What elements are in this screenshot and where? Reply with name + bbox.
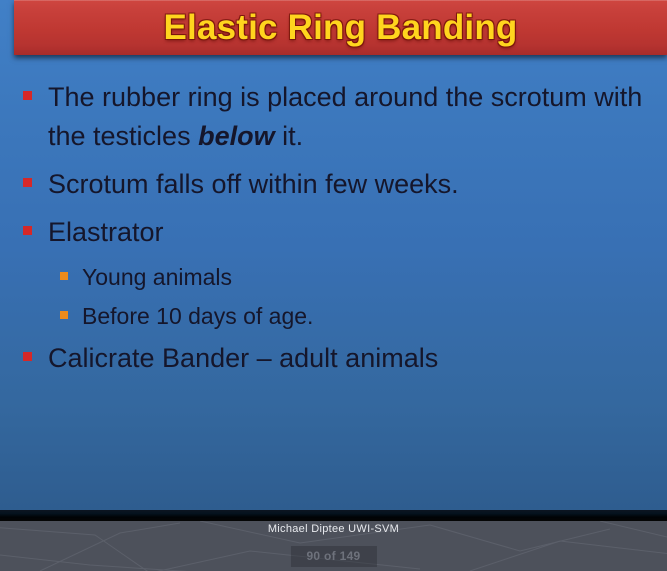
page-indicator: 90 of 149 [290,546,376,567]
bullet-item: The rubber ring is placed around the scr… [0,78,667,156]
sub-bullet-marker-icon [60,311,68,319]
bullet-marker-icon [23,178,32,187]
slide-title-banner: Elastic Ring Banding [14,0,667,55]
bullet-marker-icon [23,91,32,100]
footer-caption: Michael Diptee UWI-SVM [0,523,667,535]
sub-bullet-text: Young animals [82,261,642,293]
bullet-text: Elastrator [48,213,648,252]
bullet-text: Scrotum falls off within few weeks. [48,165,648,204]
sub-bullet-item: Young animals [0,261,667,293]
bullet-text-before: The rubber ring is placed around the scr… [48,82,642,151]
bullet-marker-icon [23,226,32,235]
sub-bullet-text: Before 10 days of age. [82,300,642,332]
footer-bar: Michael Diptee UWI-SVM 90 of 149 [0,521,667,571]
slide-bottom-divider [0,510,667,521]
bullet-item: Calicrate Bander – adult animals [0,339,667,378]
slide-body: The rubber ring is placed around the scr… [0,78,667,387]
bullet-marker-icon [23,352,32,361]
bullet-text: Calicrate Bander – adult animals [48,339,648,378]
bullet-item: Scrotum falls off within few weeks. [0,165,667,204]
bullet-text-emphasis: below [198,121,275,151]
sub-bullet-marker-icon [60,272,68,280]
sub-bullet-item: Before 10 days of age. [0,300,667,332]
slide-title: Elastic Ring Banding [163,10,517,45]
slide-viewer: Elastic Ring Banding The rubber ring is … [0,0,667,571]
bullet-text: The rubber ring is placed around the scr… [48,78,648,156]
bullet-item: Elastrator [0,213,667,252]
slide-surface: Elastic Ring Banding The rubber ring is … [0,0,667,516]
bullet-text-after: it. [275,121,304,151]
